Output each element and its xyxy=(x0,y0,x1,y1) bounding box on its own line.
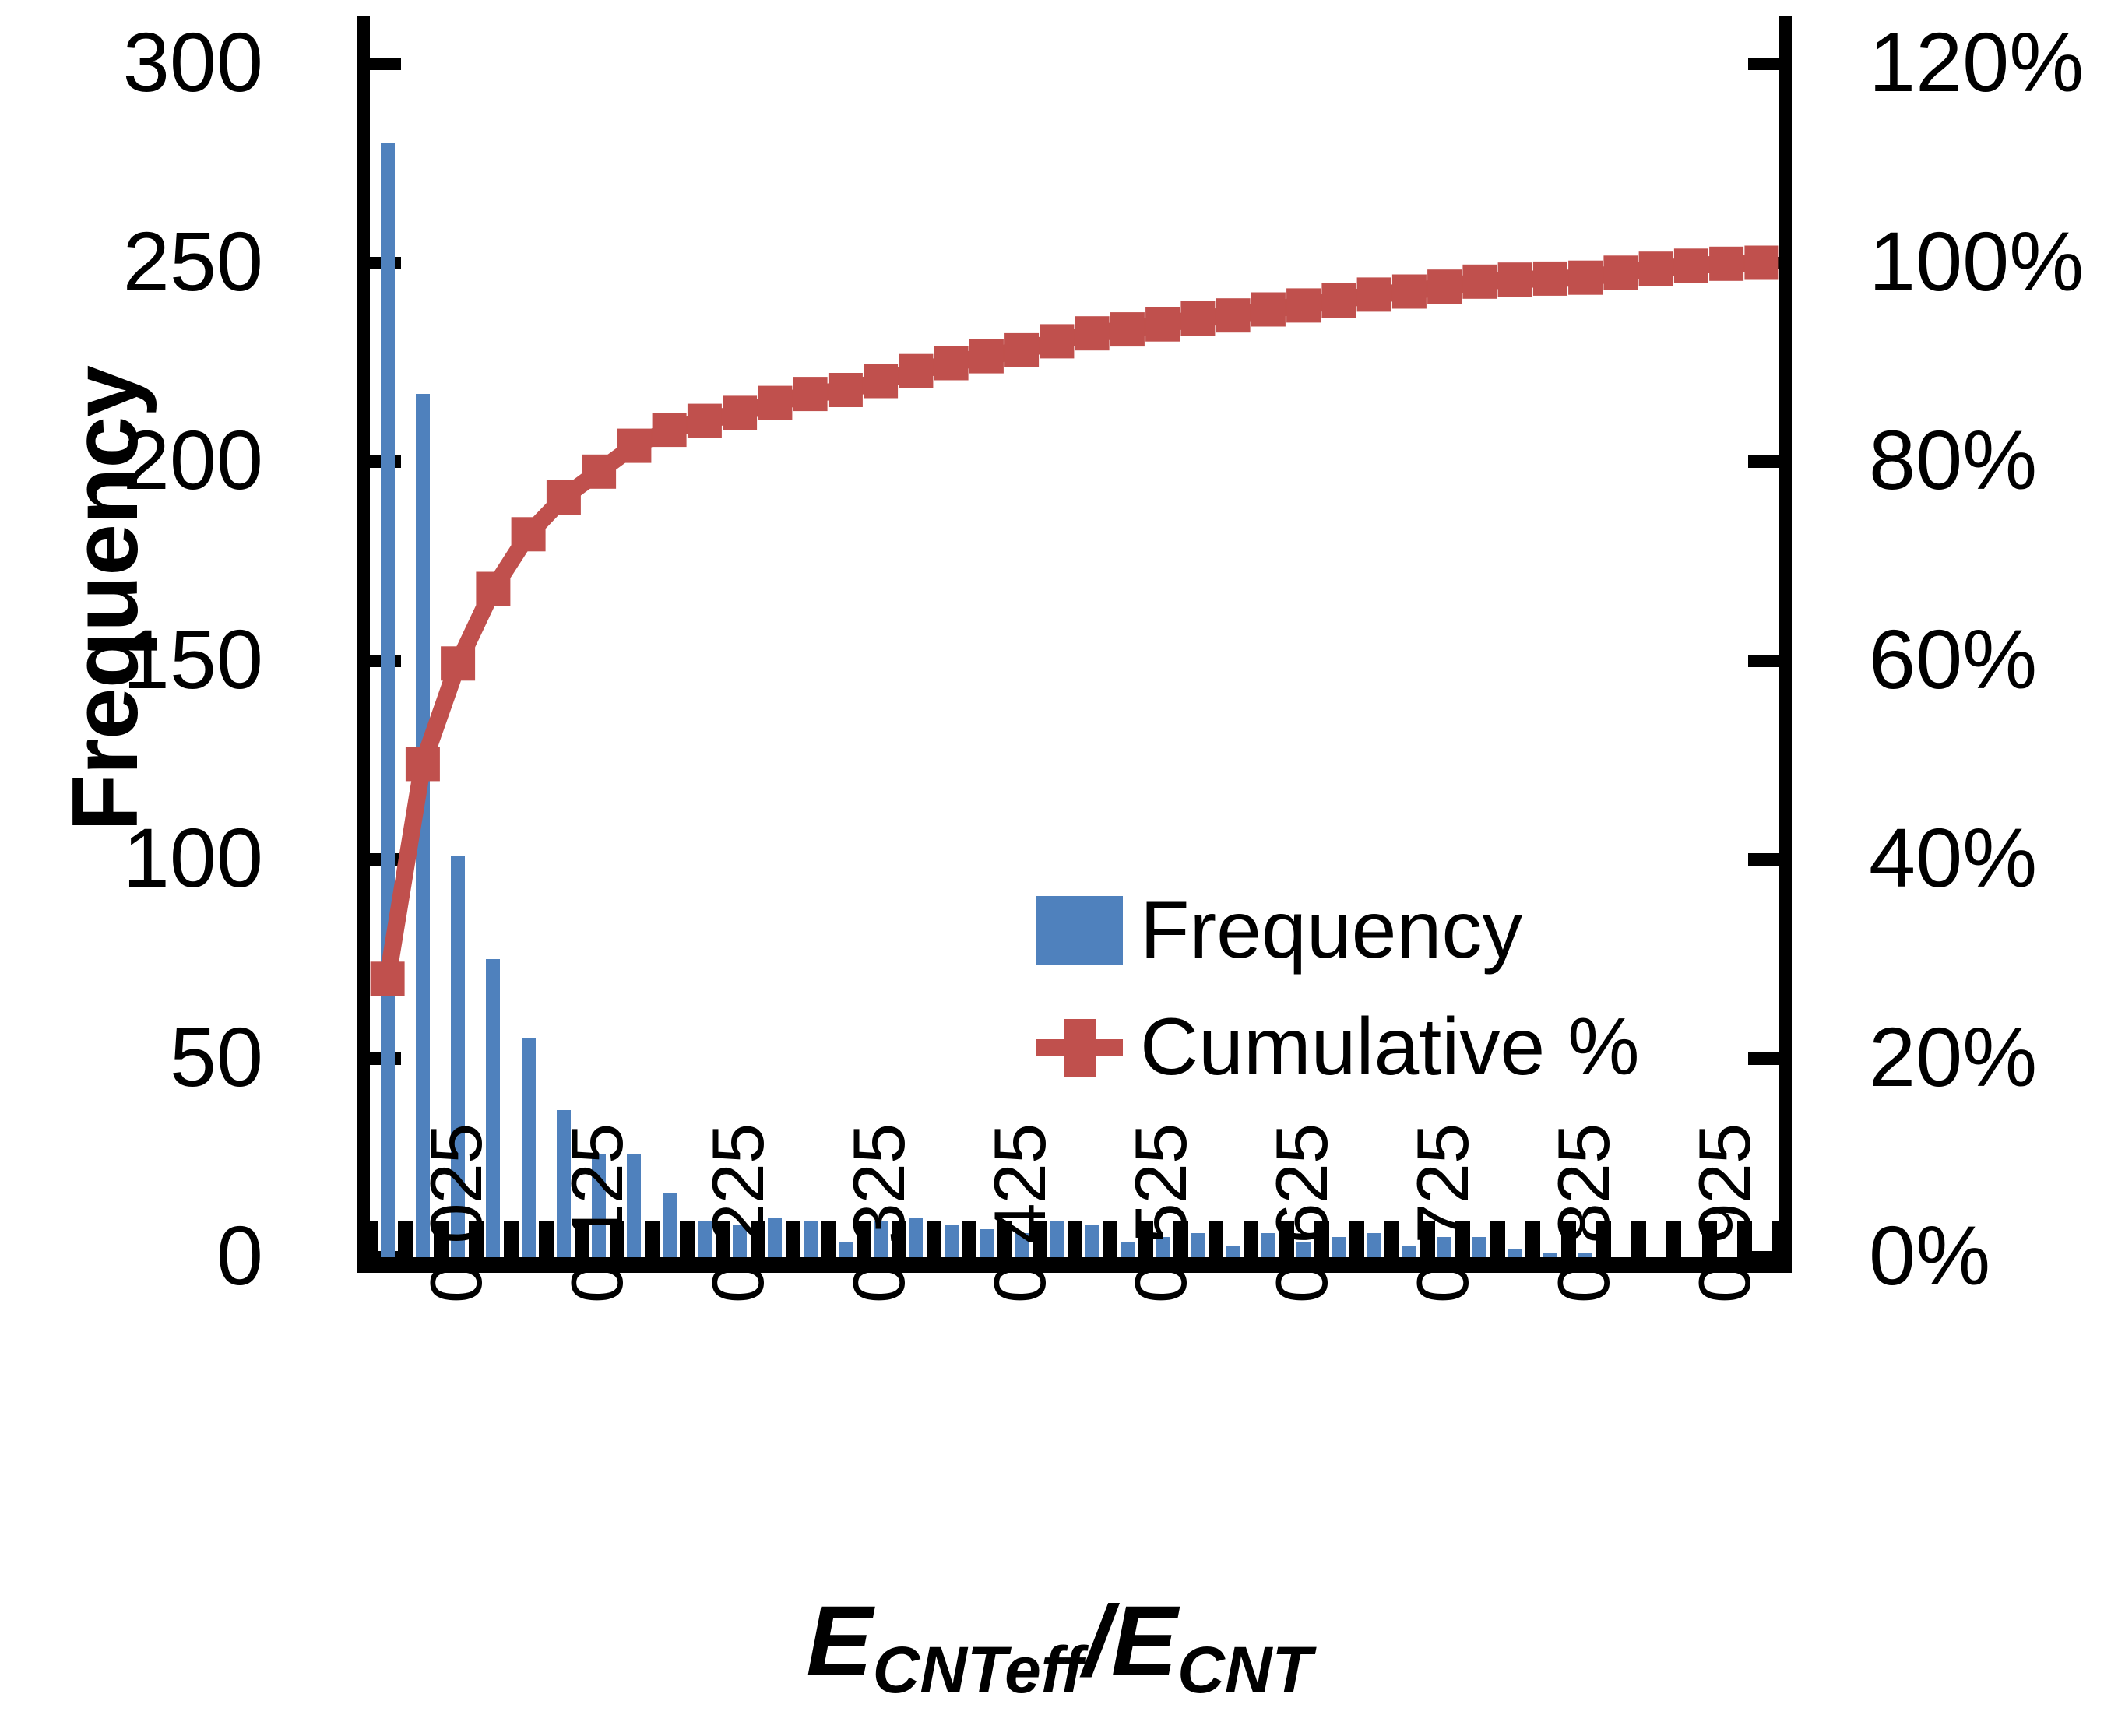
x-title-sub1: CNTeff xyxy=(873,1633,1084,1706)
cumulative-marker xyxy=(793,377,828,411)
x-title-e2: E xyxy=(1111,1586,1177,1697)
cumulative-marker xyxy=(1427,269,1462,304)
x-title-sub2: CNT xyxy=(1177,1633,1312,1706)
y-axis-right-tick-label: 40% xyxy=(1869,816,2037,900)
x-axis-tick-label: 0.825 xyxy=(1542,1124,1626,1303)
cumulative-marker xyxy=(1639,251,1673,286)
chart-legend: Frequency Cumulative % xyxy=(1036,872,1736,1105)
x-axis-title: ECNTeff/ECNT xyxy=(0,1584,2118,1699)
cumulative-marker xyxy=(1533,262,1567,296)
cumulative-marker xyxy=(1145,307,1180,342)
x-axis-tick-label: 0.725 xyxy=(1401,1124,1485,1303)
pareto-chart: 050100150200250300 Frequency 0%20%40%60%… xyxy=(0,0,2118,1736)
cumulative-marker xyxy=(1075,316,1110,350)
cumulative-marker xyxy=(1392,275,1427,309)
y-axis-right-tick-label: 20% xyxy=(1869,1015,2037,1099)
y-axis-left-tick-label: 0 xyxy=(216,1214,263,1298)
cumulative-marker xyxy=(969,339,1004,374)
cumulative-marker xyxy=(1462,265,1497,299)
cumulative-marker xyxy=(934,346,969,381)
x-axis-tick-label: 0.025 xyxy=(414,1124,498,1303)
cumulative-marker xyxy=(1709,247,1743,281)
cumulative-marker xyxy=(1321,283,1356,318)
y-axis-right-tick-label: 100% xyxy=(1869,220,2084,304)
cumulative-marker xyxy=(1674,248,1708,283)
cumulative-marker xyxy=(723,395,757,430)
cumulative-marker xyxy=(1110,312,1145,346)
cumulative-marker xyxy=(1498,262,1532,297)
y-axis-right-tick-label: 60% xyxy=(1869,617,2037,701)
y-axis-right-tick-label: 120% xyxy=(1869,20,2084,104)
cumulative-marker xyxy=(653,413,687,447)
cumulative-marker xyxy=(582,455,616,489)
axis-line-left xyxy=(357,16,370,1257)
x-axis-tick-label: 0.425 xyxy=(978,1124,1062,1303)
x-title-e1: E xyxy=(806,1586,872,1697)
y-axis-left-title: Frequency xyxy=(51,326,159,871)
cumulative-marker xyxy=(547,480,581,515)
x-axis-tick-label: 0.325 xyxy=(837,1124,921,1303)
cumulative-marker xyxy=(1004,333,1039,367)
cumulative-marker xyxy=(899,354,933,388)
cumulative-marker xyxy=(476,572,510,606)
cumulative-marker xyxy=(1744,246,1778,280)
x-axis-tick-label: 0.925 xyxy=(1683,1124,1767,1303)
x-axis-tick-labels: 0.0250.1250.2250.3250.4250.5250.6250.725… xyxy=(0,1292,2118,1573)
cumulative-marker xyxy=(617,429,651,463)
legend-swatch-bar-icon xyxy=(1036,896,1123,965)
x-axis-tick-label: 0.125 xyxy=(555,1124,639,1303)
y-axis-right-tick-label: 0% xyxy=(1869,1214,1990,1298)
cumulative-marker xyxy=(371,961,405,996)
cumulative-marker xyxy=(829,373,863,407)
legend-label-frequency: Frequency xyxy=(1140,890,1522,971)
axis-line-right xyxy=(1779,16,1792,1257)
cumulative-marker xyxy=(1251,293,1286,327)
x-title-slash: / xyxy=(1083,1586,1111,1697)
legend-label-cumulative: Cumulative % xyxy=(1140,1007,1640,1088)
cumulative-marker xyxy=(1603,255,1638,290)
cumulative-marker xyxy=(441,646,475,680)
cumulative-marker xyxy=(1568,261,1603,295)
cumulative-marker xyxy=(512,517,546,551)
y-axis-left-tick-label: 250 xyxy=(123,220,263,304)
x-axis-tick-label: 0.525 xyxy=(1119,1124,1203,1303)
y-axis-right: 0%20%40%60%80%100%120% xyxy=(1869,0,2118,1323)
cumulative-marker xyxy=(1180,301,1215,336)
x-axis-tick-label: 0.225 xyxy=(696,1124,780,1303)
cumulative-marker xyxy=(1040,324,1074,358)
cumulative-marker xyxy=(758,386,792,420)
legend-swatch-line-icon xyxy=(1036,1013,1123,1081)
cumulative-marker xyxy=(688,404,722,438)
cumulative-marker xyxy=(406,747,440,781)
cumulative-marker xyxy=(1216,298,1251,332)
y-axis-left-tick-label: 50 xyxy=(170,1015,263,1099)
y-axis-left-tick-label: 300 xyxy=(123,20,263,104)
legend-item-cumulative[interactable]: Cumulative % xyxy=(1036,989,1736,1105)
legend-item-frequency[interactable]: Frequency xyxy=(1036,872,1736,989)
y-axis-right-tick-label: 80% xyxy=(1869,418,2037,502)
cumulative-marker xyxy=(864,364,898,399)
cumulative-marker xyxy=(1286,288,1321,322)
cumulative-marker xyxy=(1357,277,1391,311)
x-axis-tick-label: 0.625 xyxy=(1260,1124,1344,1303)
